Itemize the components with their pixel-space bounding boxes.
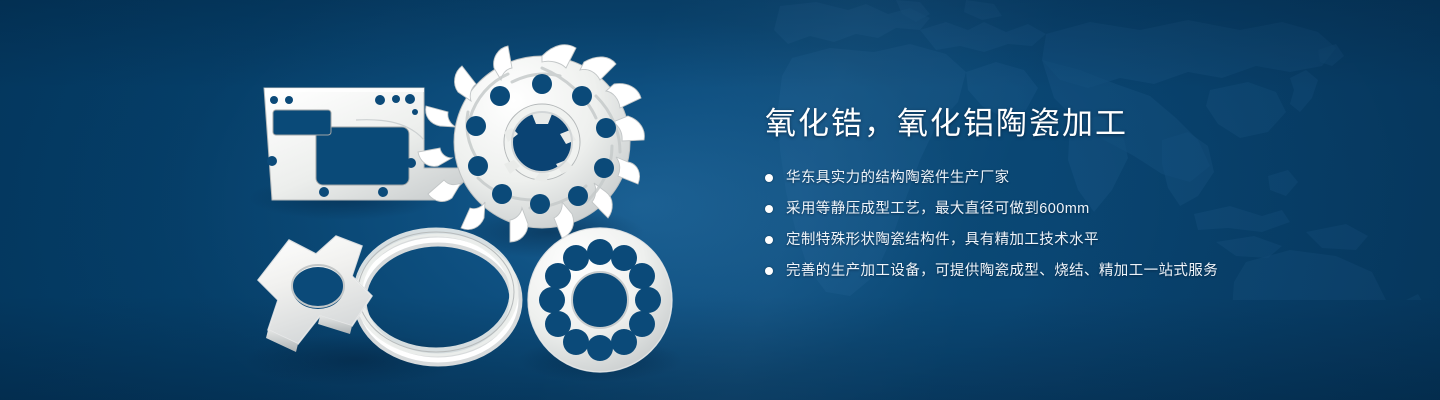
- banner-headline: 氧化锆，氧化铝陶瓷加工: [765, 104, 1385, 144]
- ceramic-products-image: [0, 0, 720, 400]
- feature-item: 华东具实力的结构陶瓷件生产厂家: [765, 168, 1385, 188]
- banner-copy: 氧化锆，氧化铝陶瓷加工 华东具实力的结构陶瓷件生产厂家 采用等静压成型工艺，最大…: [765, 104, 1385, 281]
- part-ceramic-hole-disc: [528, 228, 672, 372]
- feature-item: 完善的生产加工设备，可提供陶瓷成型、烧结、精加工一站式服务: [765, 261, 1385, 281]
- promo-banner: 氧化锆，氧化铝陶瓷加工 华东具实力的结构陶瓷件生产厂家 采用等静压成型工艺，最大…: [0, 0, 1440, 400]
- feature-text: 完善的生产加工设备，可提供陶瓷成型、烧结、精加工一站式服务: [786, 261, 1218, 281]
- bullet-dot-icon: [765, 267, 773, 275]
- feature-text: 华东具实力的结构陶瓷件生产厂家: [786, 168, 1010, 188]
- feature-item: 采用等静压成型工艺，最大直径可做到600mm: [765, 199, 1385, 219]
- feature-text: 采用等静压成型工艺，最大直径可做到600mm: [786, 199, 1090, 219]
- bullet-dot-icon: [765, 205, 773, 213]
- feature-item: 定制特殊形状陶瓷结构件，具有精加工技术水平: [765, 230, 1385, 250]
- bullet-dot-icon: [765, 174, 773, 182]
- part-ceramic-ring: [358, 232, 516, 360]
- part-ceramic-impeller: [418, 45, 644, 242]
- feature-list: 华东具实力的结构陶瓷件生产厂家 采用等静压成型工艺，最大直径可做到600mm 定…: [765, 168, 1385, 281]
- feature-text: 定制特殊形状陶瓷结构件，具有精加工技术水平: [786, 230, 1099, 250]
- part-ceramic-plate: [264, 88, 470, 200]
- bullet-dot-icon: [765, 236, 773, 244]
